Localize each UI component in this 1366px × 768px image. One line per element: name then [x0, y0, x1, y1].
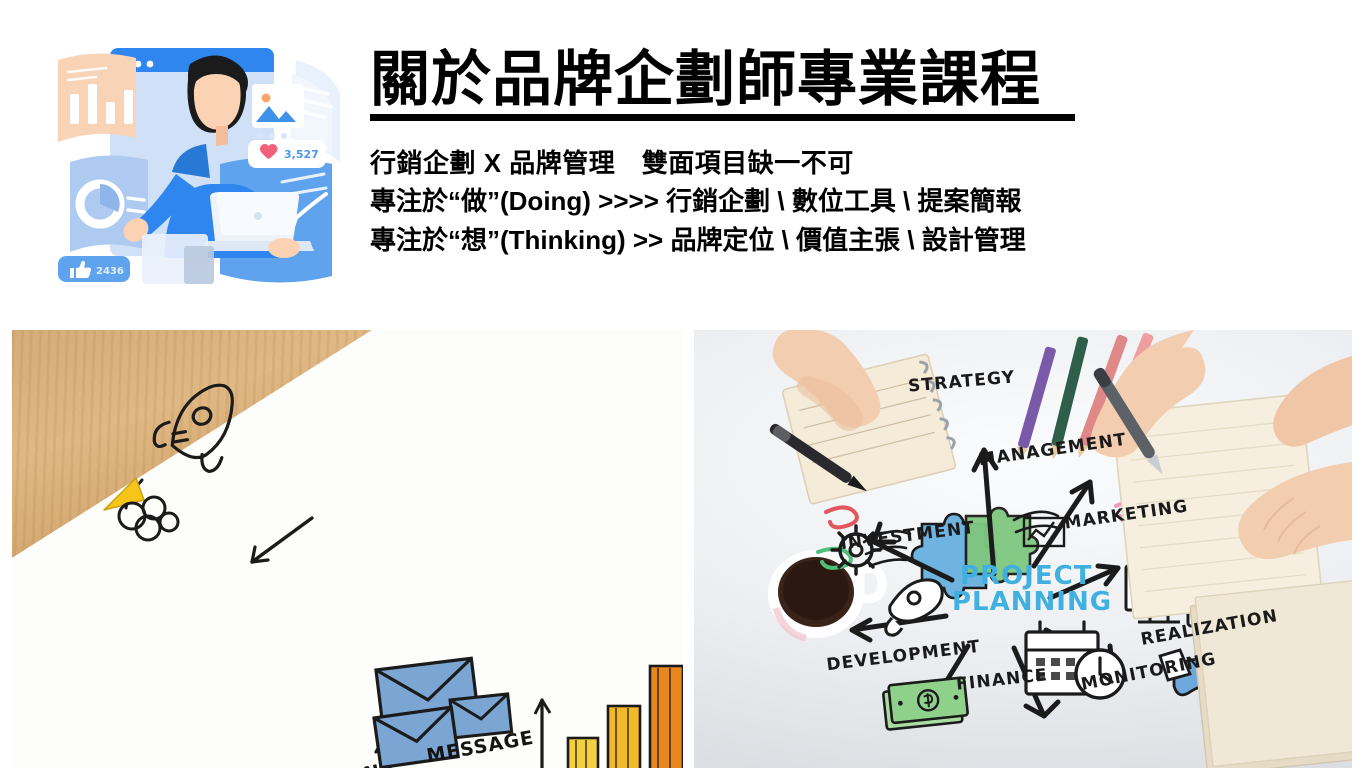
subtitle-line-3: 專注於“想”(Thinking) >> 品牌定位 \ 價值主張 \ 設計管理 [370, 221, 1330, 259]
label-project: PROJECT [960, 564, 1092, 589]
title-underline [370, 114, 1075, 121]
marketing-analytics-person-illustration: 3,527 [44, 22, 344, 302]
marketing-sketch-drawings [12, 330, 683, 768]
paperclip-red [826, 507, 857, 527]
marketing-sketch-photo: CAMPAIGN MESSAGE BENCHMAR MESSAGE RESEAR… [12, 330, 683, 768]
svg-text:3,527: 3,527 [284, 148, 319, 161]
rocket-icon [144, 379, 260, 488]
heart-badge: 3,527 [248, 140, 326, 168]
header-text-block: 關於品牌企劃師專業課程 行銷企劃 X 品牌管理 雙面項目缺一不可 專注於“做”(… [370, 48, 1330, 259]
bar-chart-icon [535, 666, 683, 768]
svg-text:2436: 2436 [96, 266, 124, 277]
project-planning-photo: STRATEGY MANAGEMENT MARKETING INVESTMENT… [694, 330, 1352, 768]
subtitle-line-2: 專注於“做”(Doing) >>>> 行銷企劃 \ 數位工具 \ 提案簡報 [370, 182, 1330, 220]
slide-root: 3,527 [0, 0, 1366, 768]
header-illustration: 3,527 [44, 22, 344, 302]
like-badge: 2436 [58, 256, 130, 282]
label-planning: PLANNING [952, 590, 1112, 615]
smoke-cloud [119, 497, 178, 540]
subtitle-line-1: 行銷企劃 X 品牌管理 雙面項目缺一不可 [370, 144, 1330, 182]
page-title: 關於品牌企劃師專業課程 [370, 48, 1330, 111]
rocket-icon-right [886, 580, 942, 635]
project-planning-drawings [694, 330, 1352, 768]
subtitle-block: 行銷企劃 X 品牌管理 雙面項目缺一不可 專注於“做”(Doing) >>>> … [370, 144, 1330, 259]
